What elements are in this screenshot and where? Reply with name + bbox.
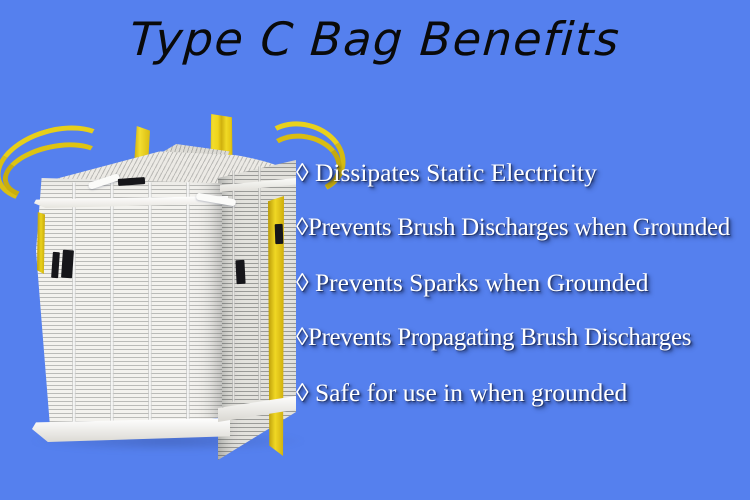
- diamond-bullet-icon: ◊: [296, 266, 309, 300]
- list-item-label: Prevents Sparks when Grounded: [309, 268, 649, 297]
- benefits-list: ◊ Dissipates Static Electricity ◊Prevent…: [296, 156, 750, 431]
- list-item-label: Prevents Propagating Brush Discharges: [308, 324, 691, 351]
- list-item: ◊ Dissipates Static Electricity: [296, 156, 750, 211]
- poster-canvas: Type C Bag Benefits: [0, 0, 750, 500]
- list-item-label: Safe for use in when grounded: [309, 378, 628, 407]
- list-item-label: Dissipates Static Electricity: [309, 158, 597, 187]
- bag-front-panel: [36, 178, 222, 438]
- diamond-bullet-icon: ◊: [296, 211, 308, 245]
- diamond-bullet-icon: ◊: [296, 376, 309, 410]
- diamond-bullet-icon: ◊: [296, 156, 309, 190]
- page-title: Type C Bag Benefits: [0, 8, 750, 70]
- product-image-bulk-bag: [0, 100, 320, 480]
- bag-label-tag: [275, 224, 284, 244]
- bag-label-tag: [61, 250, 74, 279]
- diamond-bullet-icon: ◊: [296, 321, 308, 355]
- bag-seam: [72, 182, 76, 437]
- list-item-label: Prevents Brush Discharges when Grounded: [308, 214, 730, 241]
- lift-loop-left-edge: [37, 212, 45, 274]
- bag-seam: [148, 182, 152, 437]
- bag-seam: [186, 182, 190, 437]
- bag-label-tag: [235, 260, 245, 284]
- bag-seam: [110, 182, 114, 437]
- list-item: ◊ Prevents Sparks when Grounded: [296, 266, 750, 321]
- bag-seam: [258, 166, 261, 400]
- list-item: ◊ Safe for use in when grounded: [296, 376, 750, 431]
- list-item: ◊Prevents Propagating Brush Discharges: [296, 321, 750, 376]
- list-item: ◊Prevents Brush Discharges when Grounded: [296, 211, 750, 266]
